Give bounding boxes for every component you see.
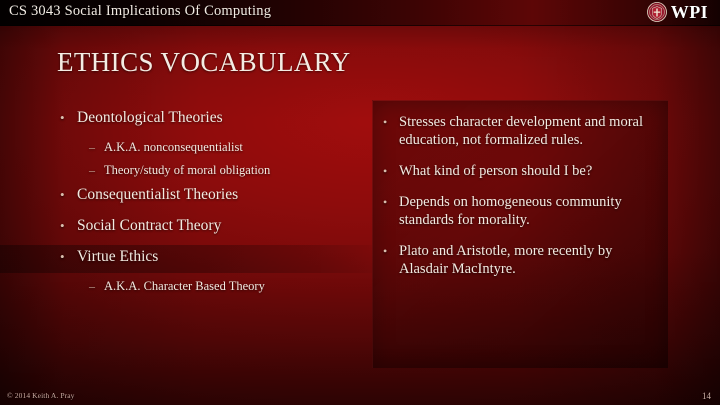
panel-bullet-label: Plato and Aristotle, more recently by Al…	[399, 242, 654, 278]
bullet-item: •Social Contract Theory	[60, 216, 360, 235]
panel-bullet-label: Stresses character development and moral…	[399, 113, 654, 149]
panel-bullet-item: •Stresses character development and mora…	[383, 113, 654, 149]
bullet-item: •Virtue Ethics	[60, 247, 360, 266]
course-title: CS 3043 Social Implications Of Computing	[9, 3, 271, 20]
bullet-item-label: Virtue Ethics	[77, 247, 360, 266]
bullet-dot-icon: •	[383, 242, 399, 260]
slide-number: 14	[702, 391, 711, 401]
bullet-item: –A.K.A. nonconsequentialist	[60, 139, 360, 156]
copyright-notice: © 2014 Keith A. Pray	[7, 391, 75, 400]
slide-title: ETHICS VOCABULARY	[57, 47, 351, 78]
bullet-item: –Theory/study of moral obligation	[60, 162, 360, 179]
bullet-item-label: A.K.A. nonconsequentialist	[104, 139, 360, 156]
bullet-dot-icon: •	[383, 193, 399, 211]
bullet-item: –A.K.A. Character Based Theory	[60, 278, 360, 295]
bullet-dash-icon: –	[89, 139, 104, 156]
panel-bullet-item: •Plato and Aristotle, more recently by A…	[383, 242, 654, 278]
wpi-logo: WPI	[647, 2, 708, 22]
bullet-item: •Deontological Theories	[60, 108, 360, 127]
presentation-slide: CS 3043 Social Implications Of Computing…	[0, 0, 720, 405]
bullet-item-label: A.K.A. Character Based Theory	[104, 278, 360, 295]
bullet-dot-icon: •	[60, 108, 77, 127]
bullet-dot-icon: •	[383, 113, 399, 131]
bullet-dash-icon: –	[89, 278, 104, 295]
bullet-dot-icon: •	[60, 216, 77, 235]
slide-header-bar: CS 3043 Social Implications Of Computing…	[0, 0, 720, 26]
panel-bullet-item: •What kind of person should I be?	[383, 162, 654, 180]
bullet-item-label: Social Contract Theory	[77, 216, 360, 235]
wpi-seal-icon	[647, 2, 667, 22]
virtue-ethics-detail-panel: •Stresses character development and mora…	[372, 100, 668, 368]
panel-bullet-label: Depends on homogeneous community standar…	[399, 193, 654, 229]
panel-bullet-item: •Depends on homogeneous community standa…	[383, 193, 654, 229]
bullet-item-label: Deontological Theories	[77, 108, 360, 127]
bullet-item: •Consequentialist Theories	[60, 185, 360, 204]
wpi-logo-text: WPI	[671, 2, 708, 22]
bullet-dash-icon: –	[89, 162, 104, 179]
left-bullet-list: •Deontological Theories–A.K.A. nonconseq…	[60, 108, 360, 301]
bullet-dot-icon: •	[383, 162, 399, 180]
bullet-dot-icon: •	[60, 185, 77, 204]
panel-bullet-label: What kind of person should I be?	[399, 162, 654, 180]
bullet-dot-icon: •	[60, 247, 77, 266]
bullet-item-label: Consequentialist Theories	[77, 185, 360, 204]
bullet-item-label: Theory/study of moral obligation	[104, 162, 360, 179]
